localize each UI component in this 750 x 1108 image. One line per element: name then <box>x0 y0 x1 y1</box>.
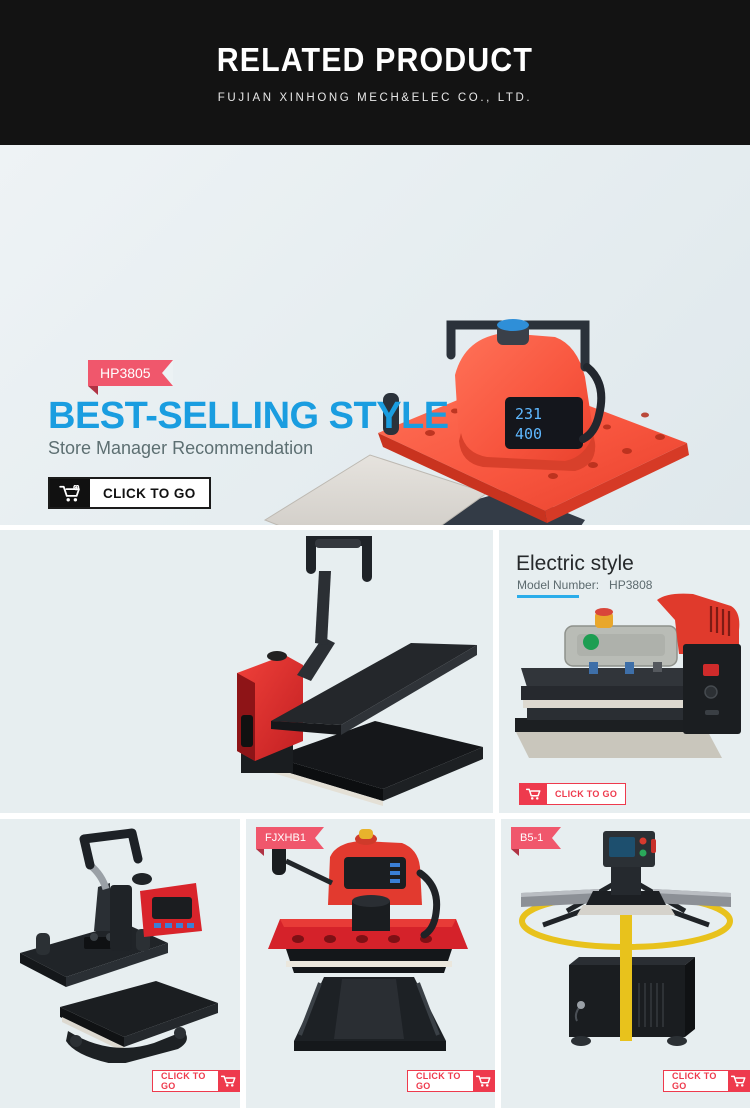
heat-press-fjxhb1-image <box>256 827 484 1063</box>
electric-accent-bar <box>517 595 579 598</box>
heat-press-hp8in1-image <box>6 825 234 1063</box>
electric-cta-label: CLICK TO GO <box>547 784 625 804</box>
panel-fjxhb1[interactable]: FJXHB1 CLICK TO GO <box>246 819 495 1108</box>
b5-1-model-tag: B5-1 <box>511 827 561 849</box>
hero-model-tag: HP3805 <box>88 360 173 386</box>
fjxhb1-model-tag: FJXHB1 <box>256 827 324 849</box>
electric-panel-title: Electric style <box>516 552 634 576</box>
hero-click-to-go-button[interactable]: CLICK TO GO <box>48 477 211 509</box>
b5-1-cta-label: CLICK TO GO <box>664 1071 728 1091</box>
display-time: 400 <box>515 425 542 443</box>
shopping-cart-icon <box>728 1071 749 1091</box>
electric-model-label: Model Number: <box>517 578 599 592</box>
heat-press-b5-1-image <box>507 825 745 1065</box>
hero-subtitle: Store Manager Recommendation <box>48 438 313 459</box>
panel-b5-1[interactable]: B5-1 CLICK TO GO <box>501 819 750 1108</box>
fjxhb1-click-to-go-button[interactable]: CLICK TO GO <box>407 1070 495 1092</box>
hero-cta-label: CLICK TO GO <box>90 479 209 507</box>
ribbon-fold <box>256 849 264 856</box>
shopping-cart-icon <box>50 479 90 507</box>
hp8in1-click-to-go-button[interactable]: CLICK TO GO <box>152 1070 240 1092</box>
hero-model-tag-label: HP3805 <box>88 360 173 386</box>
shopping-cart-icon <box>218 1071 239 1091</box>
related-product-page: RELATED PRODUCT FUJIAN XINHONG MECH&ELEC… <box>0 0 750 1108</box>
display-temperature: 231 <box>515 405 542 423</box>
electric-click-to-go-button[interactable]: CLICK TO GO <box>519 783 626 805</box>
hp8in1-cta-label: CLICK TO GO <box>153 1071 218 1091</box>
hero-title: BEST-SELLING STYLE <box>48 395 449 438</box>
page-title: RELATED PRODUCT <box>217 41 533 79</box>
hero-banner: 231 400 HP3805 BEST-SELLING STYLE Store … <box>0 145 750 525</box>
heat-press-hp3802n-image <box>215 530 493 813</box>
fjxhb1-tag-label: FJXHB1 <box>256 827 324 849</box>
ribbon-fold <box>88 386 98 395</box>
panel-hp8in1[interactable]: HP8in1 CLICK TO GO <box>0 819 240 1108</box>
heat-press-hp3808-image <box>507 590 747 780</box>
electric-panel-model: Model Number: HP3808 <box>517 578 652 592</box>
electric-model-value: HP3808 <box>609 578 652 592</box>
panel-manually-style[interactable]: Manually style Model Number: HP3802N CLI… <box>0 530 493 813</box>
page-header: RELATED PRODUCT FUJIAN XINHONG MECH&ELEC… <box>0 0 750 145</box>
ribbon-fold <box>511 849 519 856</box>
b5-1-tag-label: B5-1 <box>511 827 561 849</box>
shopping-cart-icon <box>520 784 547 804</box>
fjxhb1-cta-label: CLICK TO GO <box>408 1071 473 1091</box>
shopping-cart-icon <box>473 1071 494 1091</box>
b5-1-click-to-go-button[interactable]: CLICK TO GO <box>663 1070 750 1092</box>
panel-electric-style[interactable]: Electric style Model Number: HP3808 CLIC… <box>499 530 750 813</box>
company-name: FUJIAN XINHONG MECH&ELEC CO., LTD. <box>218 92 532 104</box>
